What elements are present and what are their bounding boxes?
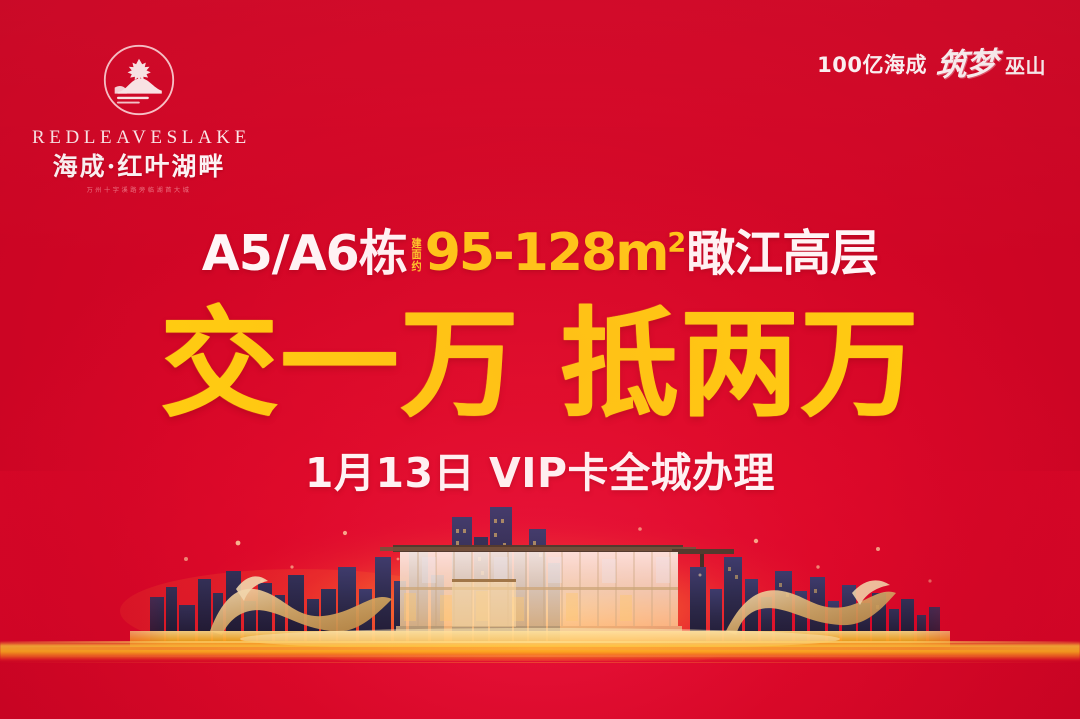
brand-tagline: 万州十字溪路旁临湖首大城: [32, 187, 245, 193]
spec-view-label: 瞰江高层: [686, 229, 878, 278]
ground-hotspot: [240, 628, 840, 650]
brand-chinese-name: 海成·红叶湖畔: [28, 154, 250, 179]
slogan-verb: 筑梦: [935, 49, 998, 82]
cityscape-svg: [0, 471, 1080, 661]
spec-building-label: A5/A6栋: [202, 229, 407, 278]
corner-slogan: 100亿海成 筑梦 巫山: [817, 50, 1046, 81]
spec-area-number: 95-128m: [425, 223, 668, 283]
spec-area-note-char-3: 约: [411, 261, 421, 272]
hero-text-right: 抵两万: [560, 305, 920, 423]
headline-hero-line: 交一万 抵两万: [0, 300, 1080, 428]
slogan-amount: 100亿海成: [817, 55, 927, 76]
spec-area-value: 95-128m2: [425, 227, 686, 279]
spec-area-unit-superscript: 2: [667, 228, 686, 259]
slogan-place: 巫山: [1005, 56, 1046, 76]
brand-logo[interactable]: REDLEAVESLAKE 海成·红叶湖畔 万州十字溪路旁临湖首大城: [28, 42, 250, 194]
maple-leaf-lake-emblem-icon: [101, 42, 177, 118]
hero-text-left: 交一万: [160, 305, 520, 423]
spec-area-note: 建 面 约: [411, 238, 421, 272]
scene-fade-right: [910, 471, 1080, 661]
promo-poster: REDLEAVESLAKE 海成·红叶湖畔 万州十字溪路旁临湖首大城 100亿海…: [0, 0, 1080, 719]
scene-fade-left: [0, 471, 170, 661]
brand-english-name: REDLEAVESLAKE: [32, 128, 250, 147]
cityscape-illustration: [0, 471, 1080, 661]
headline-spec-line: A5/A6栋 建 面 约 95-128m2 瞰江高层: [0, 222, 1080, 284]
